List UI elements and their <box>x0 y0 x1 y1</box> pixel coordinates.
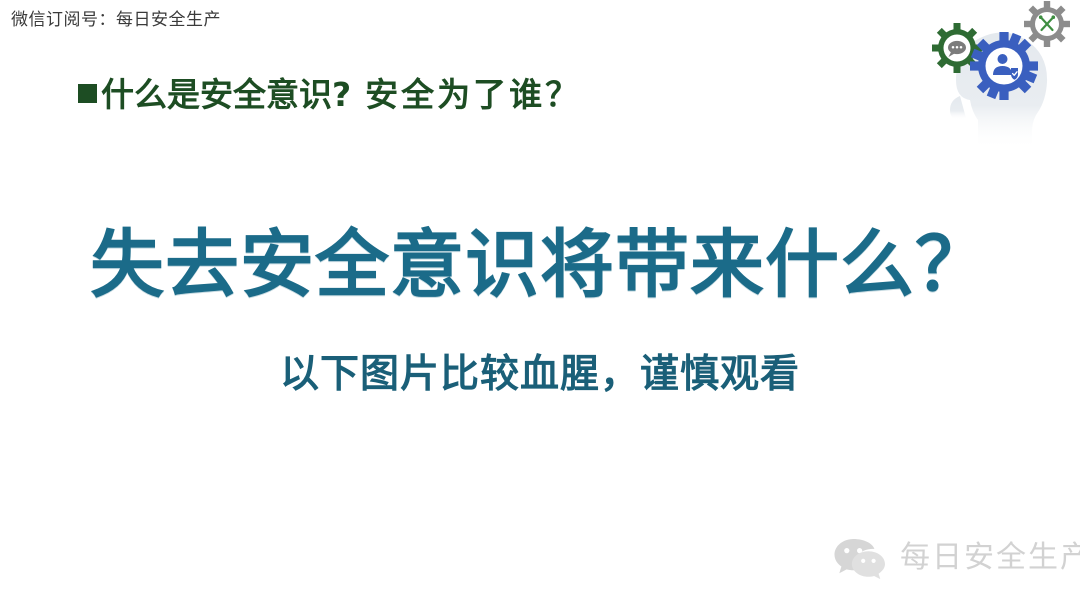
wechat-watermark: 每日安全生产 <box>832 536 1080 580</box>
head-with-gears-illustration <box>900 0 1080 150</box>
warning-subtitle: 以下图片比较血腥，谨慎观看 <box>0 350 1080 400</box>
section-heading-main-text: 什么是安全意识? <box>101 68 351 116</box>
gear-tools-icon <box>1024 1 1070 47</box>
wechat-logo-icon <box>832 536 886 580</box>
slide-canvas: 微信订阅号：每日安全生产 什么是安全意识? 安全为了谁？ 失去安全意识将带来什么… <box>0 0 1080 608</box>
channel-header: 微信订阅号：每日安全生产 <box>11 8 221 32</box>
watermark-text: 每日安全生产 <box>900 539 1080 577</box>
chat-bubble-icon <box>948 41 966 57</box>
wrench-screwdriver-icon <box>1039 15 1055 30</box>
gear-person-shield-icon <box>970 32 1038 100</box>
gear-chat-icon <box>932 23 982 73</box>
section-heading: 什么是安全意识? 安全为了谁？ <box>78 68 581 116</box>
section-heading-sub-text: 安全为了谁？ <box>365 68 581 116</box>
head-silhouette-icon <box>950 32 1047 150</box>
bullet-square-icon <box>78 84 97 103</box>
shield-badge-icon <box>1011 68 1018 80</box>
main-title: 失去安全意识将带来什么？ <box>0 222 1080 308</box>
